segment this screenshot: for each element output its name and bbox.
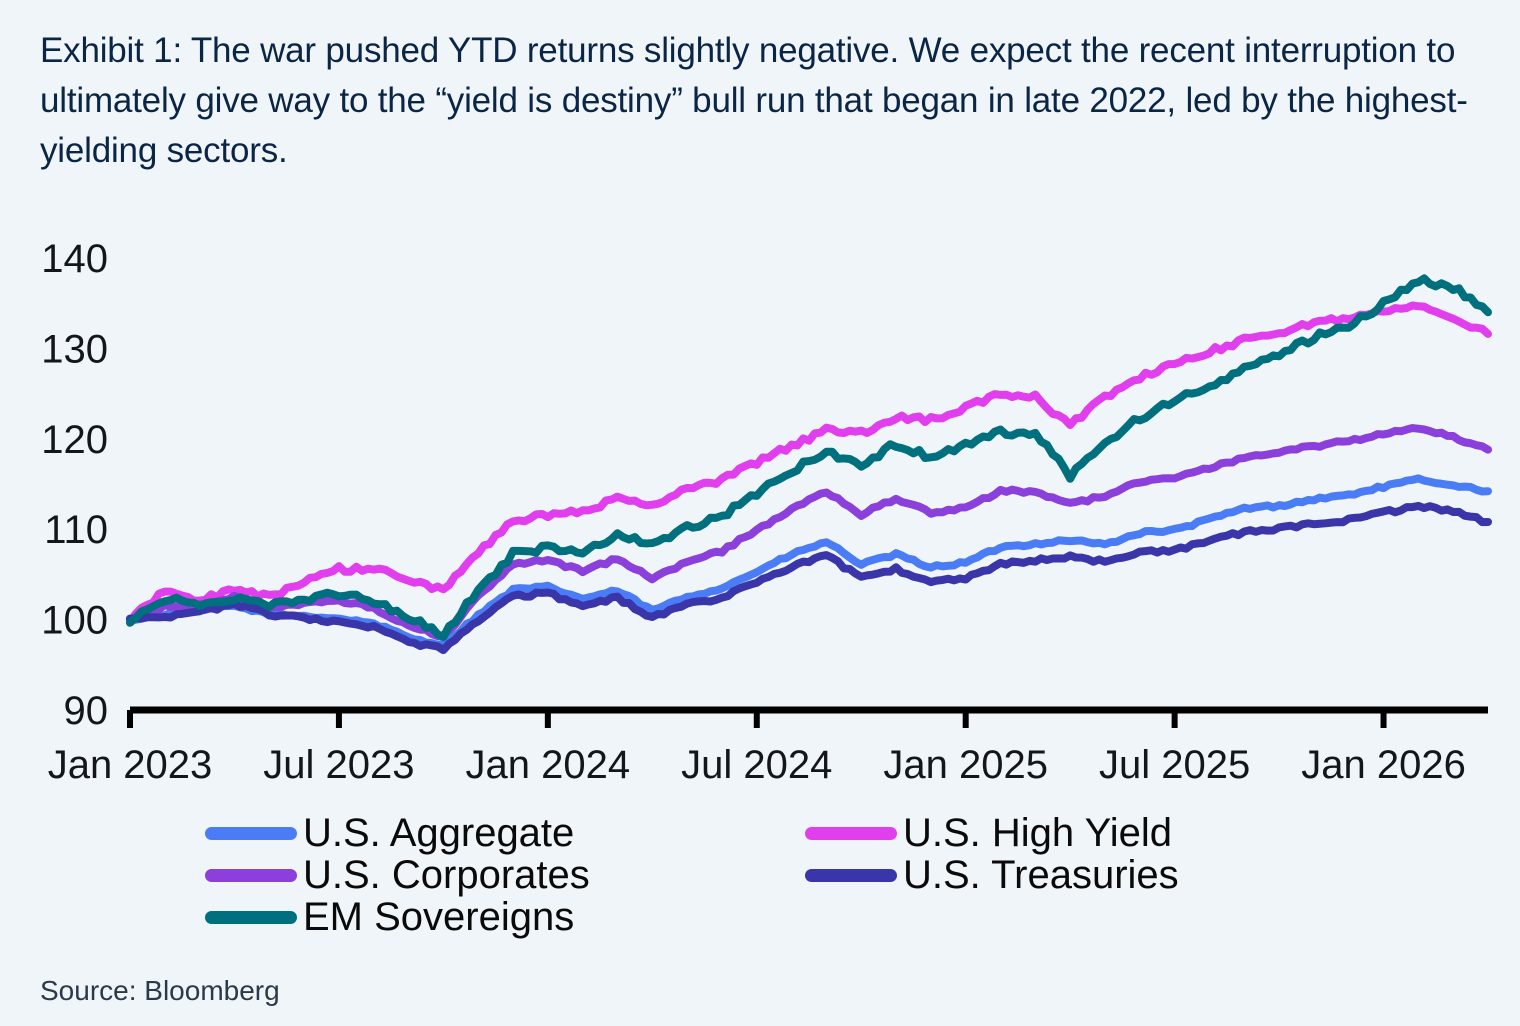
legend-label-us-treasuries: U.S. Treasuries <box>903 855 1179 895</box>
legend-item-em-sovereigns[interactable]: EM Sovereigns <box>205 896 590 938</box>
x-tick-jul-2023: Jul 2023 <box>263 743 414 787</box>
chart-legend: U.S. Aggregate U.S. Corporates EM Sovere… <box>0 812 1520 952</box>
x-tick-jan-2024: Jan 2024 <box>466 743 631 787</box>
x-tick-jul-2025: Jul 2025 <box>1099 743 1250 787</box>
legend-label-em-sovereigns: EM Sovereigns <box>303 897 574 937</box>
y-tick-140: 140 <box>41 237 108 281</box>
x-axis-line <box>130 710 1488 728</box>
series-lines <box>130 278 1488 650</box>
legend-item-us-high-yield[interactable]: U.S. High Yield <box>805 812 1179 854</box>
y-tick-100: 100 <box>41 599 108 643</box>
y-tick-130: 130 <box>41 327 108 371</box>
legend-swatch-us-aggregate <box>205 827 297 840</box>
legend-item-us-corporates[interactable]: U.S. Corporates <box>205 854 590 896</box>
series-line-u-s-treasuries <box>130 506 1488 650</box>
legend-item-us-aggregate[interactable]: U.S. Aggregate <box>205 812 590 854</box>
legend-label-us-aggregate: U.S. Aggregate <box>303 813 574 853</box>
chart-container: 90100110120130140 Jan 2023Jul 2023Jan 20… <box>0 210 1520 790</box>
legend-item-us-treasuries[interactable]: U.S. Treasuries <box>805 854 1179 896</box>
legend-swatch-em-sovereigns <box>205 911 297 924</box>
legend-label-us-corporates: U.S. Corporates <box>303 855 590 895</box>
y-tick-90: 90 <box>64 689 109 733</box>
x-tick-jul-2024: Jul 2024 <box>681 743 832 787</box>
line-chart: 90100110120130140 Jan 2023Jul 2023Jan 20… <box>0 210 1520 790</box>
page-title: Exhibit 1: The war pushed YTD returns sl… <box>40 26 1500 176</box>
y-tick-120: 120 <box>41 418 108 462</box>
source-note: Source: Bloomberg <box>40 975 280 1007</box>
x-tick-jan-2026: Jan 2026 <box>1301 743 1466 787</box>
legend-swatch-us-treasuries <box>805 869 897 882</box>
legend-column-left: U.S. Aggregate U.S. Corporates EM Sovere… <box>205 812 590 938</box>
x-axis-tick-labels: Jan 2023Jul 2023Jan 2024Jul 2024Jan 2025… <box>48 743 1466 787</box>
legend-swatch-us-high-yield <box>805 827 897 840</box>
legend-swatch-us-corporates <box>205 869 297 882</box>
y-axis-tick-labels: 90100110120130140 <box>41 237 108 733</box>
legend-column-right: U.S. High Yield U.S. Treasuries <box>805 812 1179 896</box>
legend-label-us-high-yield: U.S. High Yield <box>903 813 1172 853</box>
y-tick-110: 110 <box>44 508 108 552</box>
x-tick-jan-2025: Jan 2025 <box>883 743 1048 787</box>
x-tick-jan-2023: Jan 2023 <box>48 743 213 787</box>
